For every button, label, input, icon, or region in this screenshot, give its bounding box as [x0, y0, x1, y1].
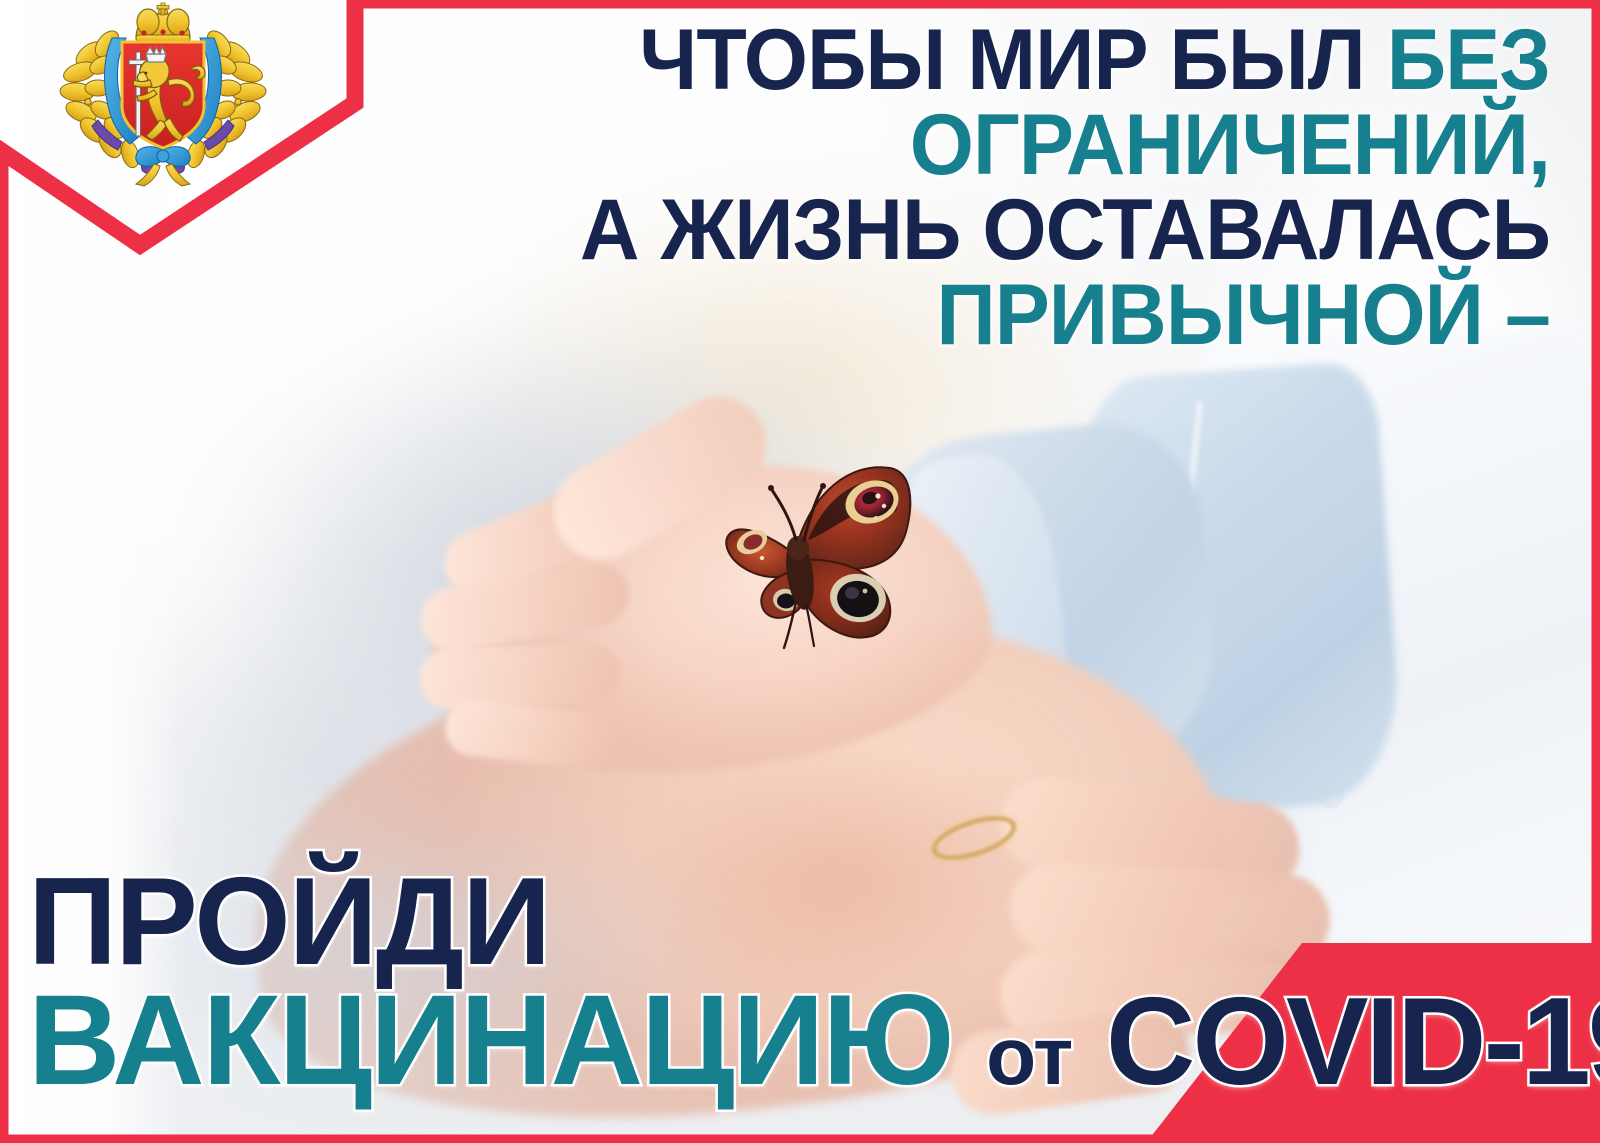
headline-line-3-navy: А ЖИЗНЬ ОСТАВАЛАСЬ [580, 182, 1550, 278]
poster-canvas: ЧТОБЫ МИР БЫЛ БЕЗ ОГРАНИЧЕНИЙ, А ЖИЗНЬ О… [0, 0, 1600, 1143]
headline-line-1: ЧТОБЫ МИР БЫЛ БЕЗ [350, 18, 1550, 103]
headline-line-3: А ЖИЗНЬ ОСТАВАЛАСЬ [350, 188, 1550, 273]
headline-block: ЧТОБЫ МИР БЫЛ БЕЗ ОГРАНИЧЕНИЙ, А ЖИЗНЬ О… [350, 18, 1550, 359]
call-to-action-block: ПРОЙДИ ВАКЦИНАЦИЮ от COVID-19 [28, 864, 1588, 1101]
cta-line-2: ВАКЦИНАЦИЮ от COVID-19 [28, 981, 1588, 1101]
cta-line-1: ПРОЙДИ [28, 864, 1588, 981]
cta-vaccination: ВАКЦИНАЦИЮ [28, 969, 953, 1112]
headline-line-4: ПРИВЫЧНОЙ – [350, 273, 1550, 358]
cta-preposition: от [986, 1011, 1072, 1102]
headline-line-1-navy: ЧТОБЫ МИР БЫЛ [639, 12, 1364, 108]
imperial-crown [136, 3, 190, 42]
cta-covid-19: COVID-19 [1106, 973, 1600, 1111]
headline-line-4-teal: ПРИВЫЧНОЙ – [936, 267, 1550, 363]
butterfly [700, 440, 950, 660]
child-finger [419, 642, 621, 711]
headline-line-2: ОГРАНИЧЕНИЙ, [350, 103, 1550, 188]
coat-of-arms-vladimir-oblast [50, 2, 276, 188]
headline-line-2-teal: ОГРАНИЧЕНИЙ, [910, 97, 1550, 193]
headline-line-1-teal: БЕЗ [1387, 12, 1550, 108]
